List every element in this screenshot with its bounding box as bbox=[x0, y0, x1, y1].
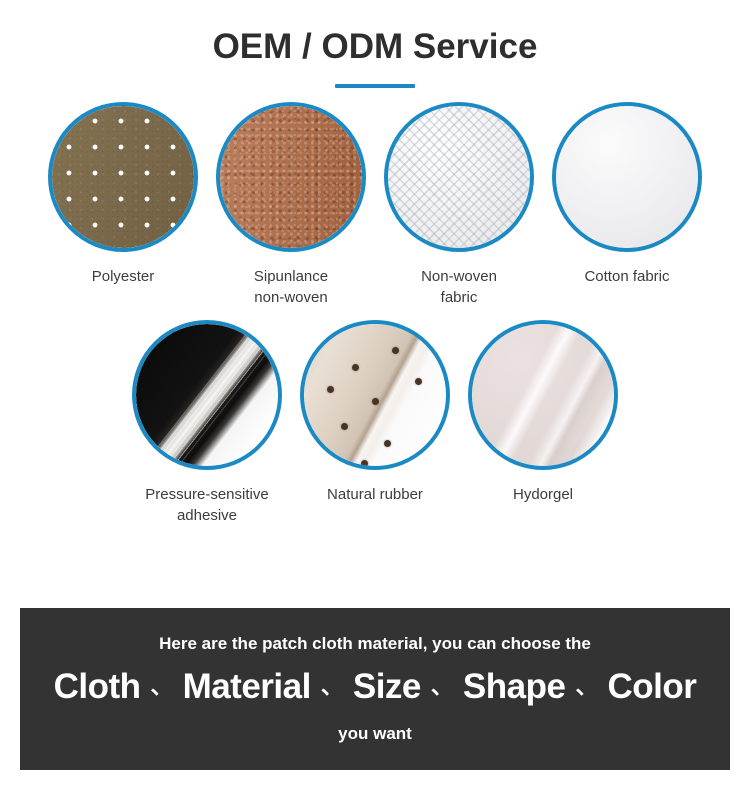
swatch-sipunlance[interactable] bbox=[216, 102, 366, 252]
swatch-texture bbox=[304, 324, 446, 466]
material-cell[interactable]: Pressure-sensitiveadhesive bbox=[123, 320, 291, 526]
swatch-texture bbox=[556, 106, 698, 248]
material-label: Polyester bbox=[92, 266, 155, 287]
swatch-wrapper bbox=[132, 320, 282, 470]
banner-keyword: Shape bbox=[461, 667, 568, 707]
material-label: Pressure-sensitiveadhesive bbox=[145, 484, 268, 526]
rubber-hole bbox=[352, 364, 359, 371]
rubber-hole bbox=[384, 440, 391, 447]
swatch-hydorgel[interactable] bbox=[468, 320, 618, 470]
banner-outro-text: you want bbox=[338, 723, 412, 745]
swatch-natural-rubber[interactable] bbox=[300, 320, 450, 470]
material-label: Natural rubber bbox=[327, 484, 423, 505]
banner-keyword: Material bbox=[181, 667, 313, 707]
title-underline-accent bbox=[335, 84, 415, 88]
material-cell[interactable]: Hydorgel bbox=[459, 320, 627, 505]
material-cell[interactable]: Natural rubber bbox=[291, 320, 459, 505]
swatch-wrapper bbox=[468, 320, 618, 470]
swatch-wrapper bbox=[48, 102, 198, 252]
swatch-texture bbox=[52, 106, 194, 248]
rubber-hole bbox=[327, 386, 334, 393]
banner-separator: 、 bbox=[143, 667, 181, 707]
swatch-cotton-fabric[interactable] bbox=[552, 102, 702, 252]
banner-separator: 、 bbox=[567, 667, 605, 707]
rubber-hole bbox=[415, 378, 422, 385]
banner-keyword: Color bbox=[605, 667, 698, 707]
material-row-2: Pressure-sensitiveadhesiveNatural rubber… bbox=[0, 320, 750, 526]
swatch-texture bbox=[388, 106, 530, 248]
swatch-wrapper bbox=[300, 320, 450, 470]
swatch-wrapper bbox=[384, 102, 534, 252]
page-header: OEM / ODM Service bbox=[0, 0, 750, 88]
banner-separator: 、 bbox=[423, 667, 461, 707]
material-swatch-grid: PolyesterSipunlancenon-wovenNon-wovenfab… bbox=[0, 102, 750, 526]
banner-keyword: Cloth bbox=[52, 667, 143, 707]
material-label: Hydorgel bbox=[513, 484, 573, 505]
page-title: OEM / ODM Service bbox=[0, 26, 750, 68]
rubber-hole bbox=[361, 460, 368, 467]
banner-separator: 、 bbox=[313, 667, 351, 707]
banner-intro-text: Here are the patch cloth material, you c… bbox=[159, 633, 591, 655]
swatch-polyester[interactable] bbox=[48, 102, 198, 252]
swatch-pressure-sensitive-adhesive[interactable] bbox=[132, 320, 282, 470]
swatch-texture bbox=[220, 106, 362, 248]
material-label: Cotton fabric bbox=[584, 266, 669, 287]
banner-keyword-list: Cloth、Material、Size、Shape、Color bbox=[52, 667, 699, 711]
material-cell[interactable]: Cotton fabric bbox=[543, 102, 711, 287]
material-label: Sipunlancenon-woven bbox=[254, 266, 328, 308]
rubber-perforations bbox=[304, 324, 446, 466]
material-cell[interactable]: Non-wovenfabric bbox=[375, 102, 543, 308]
material-cell[interactable]: Sipunlancenon-woven bbox=[207, 102, 375, 308]
material-cell[interactable]: Polyester bbox=[39, 102, 207, 287]
rubber-hole bbox=[392, 347, 399, 354]
callout-banner: Here are the patch cloth material, you c… bbox=[20, 608, 730, 770]
banner-keyword: Size bbox=[351, 667, 423, 707]
swatch-texture bbox=[136, 324, 278, 466]
material-label: Non-wovenfabric bbox=[421, 266, 497, 308]
swatch-non-woven-fabric[interactable] bbox=[384, 102, 534, 252]
rubber-hole bbox=[372, 398, 379, 405]
rubber-hole bbox=[341, 423, 348, 430]
swatch-wrapper bbox=[552, 102, 702, 252]
swatch-wrapper bbox=[216, 102, 366, 252]
material-row-1: PolyesterSipunlancenon-wovenNon-wovenfab… bbox=[0, 102, 750, 308]
swatch-texture bbox=[472, 324, 614, 466]
